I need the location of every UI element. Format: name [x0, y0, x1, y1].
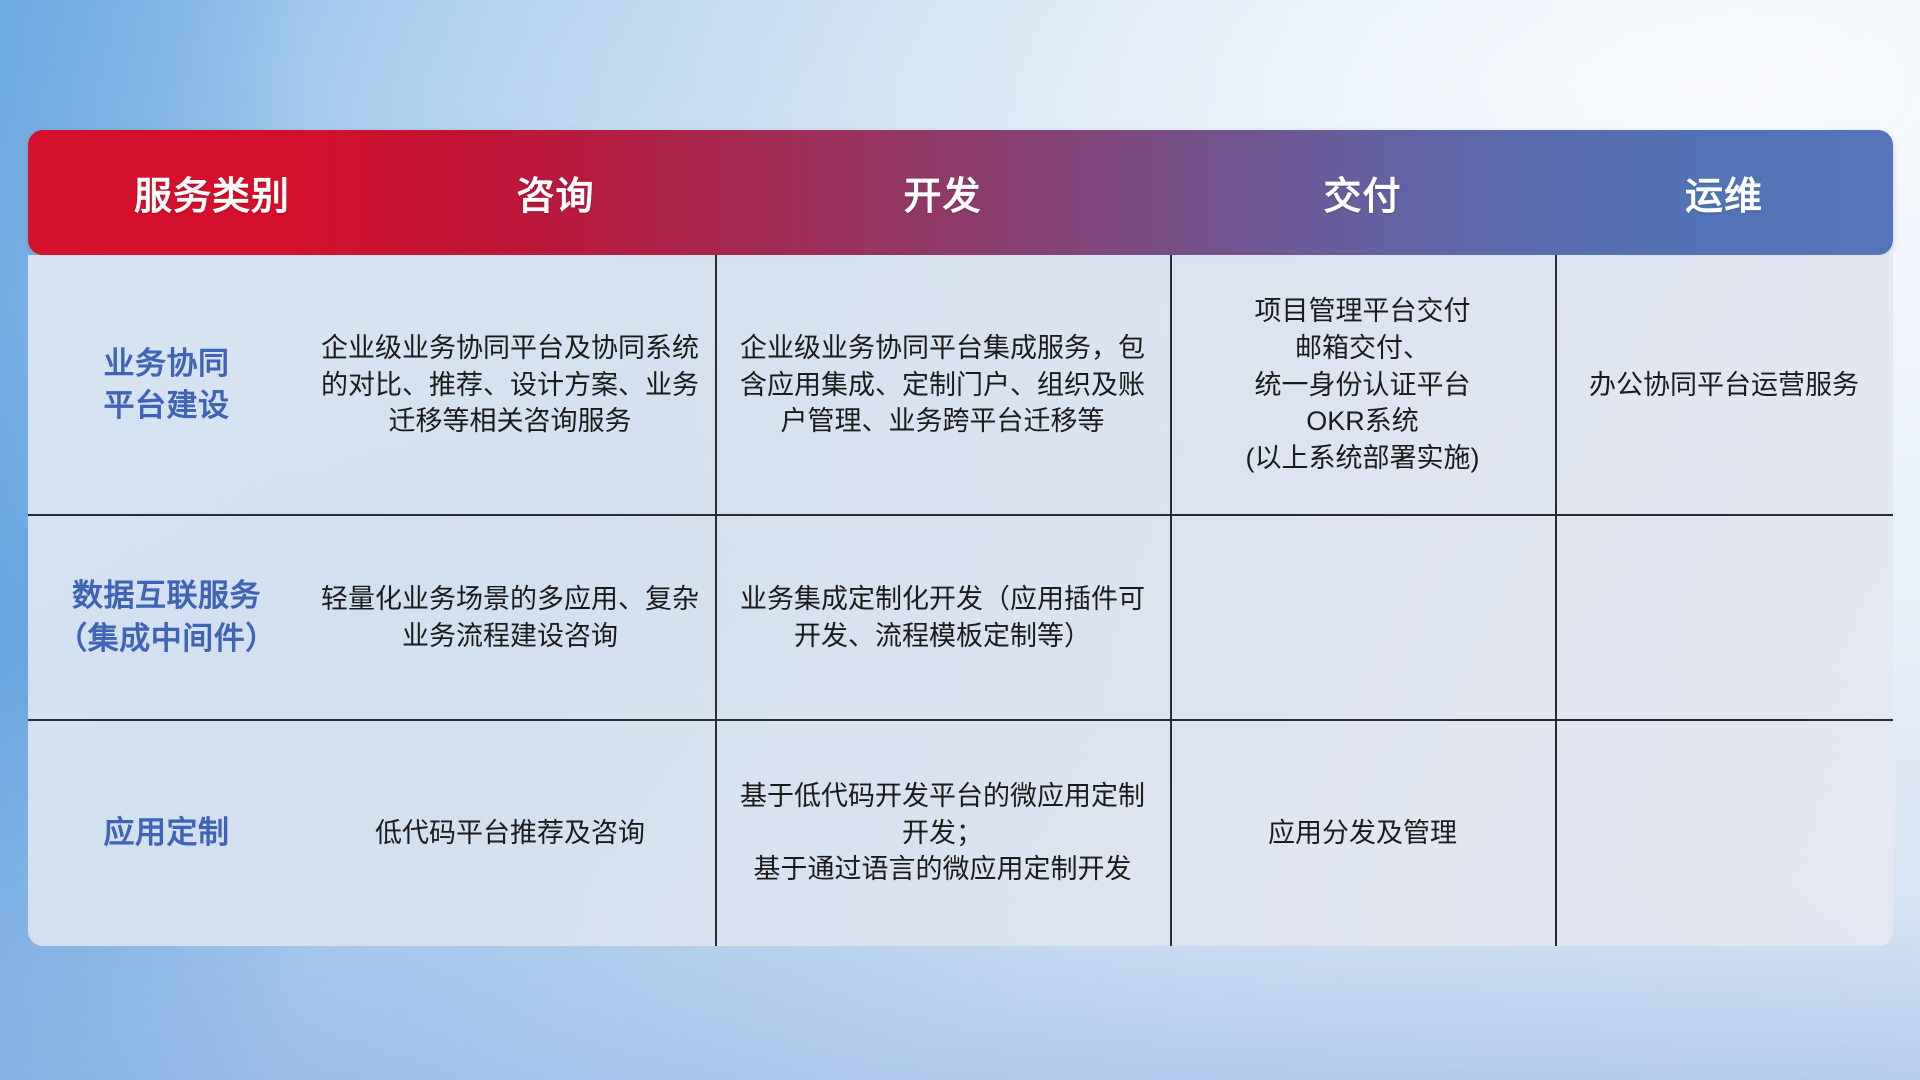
column-header-delivery: 交付 — [1170, 165, 1555, 220]
row-2-category-and-consulting: 应用定制 低代码平台推荐及咨询 — [28, 720, 715, 946]
table-row: 应用定制 低代码平台推荐及咨询 基于低代码开发平台的微应用定制开发； 基于通过语… — [28, 720, 1893, 946]
row-2-category-label: 应用定制 — [28, 720, 305, 946]
row-1-cell-consulting: 轻量化业务场景的多应用、复杂业务流程建设咨询 — [305, 515, 715, 720]
row-0-category-label: 业务协同 平台建设 — [28, 255, 305, 515]
row-1-cell-development: 业务集成定制化开发（应用插件可开发、流程模板定制等） — [715, 515, 1170, 720]
column-header-service-category: 服务类别 — [28, 165, 396, 220]
table-header-row: 服务类别 咨询 开发 交付 运维 — [28, 130, 1893, 255]
column-header-development: 开发 — [715, 165, 1170, 220]
row-1-category-line1: 数据互联服务 — [72, 578, 261, 613]
row-0-delivery-line-3: 统一身份认证平台 — [1254, 370, 1470, 400]
row-0-category-and-consulting: 业务协同 平台建设 企业级业务协同平台及协同系统的对比、推荐、设计方案、业务迁移… — [28, 255, 715, 515]
row-0-delivery-line-1: 项目管理平台交付 — [1254, 296, 1470, 326]
row-0-delivery-line-2: 邮箱交付、 — [1295, 333, 1430, 363]
column-header-consulting: 咨询 — [396, 165, 715, 220]
table-body: 业务协同 平台建设 企业级业务协同平台及协同系统的对比、推荐、设计方案、业务迁移… — [28, 255, 1893, 946]
row-0-category-line1: 业务协同 — [104, 346, 230, 381]
row-1-category-label: 数据互联服务 （集成中间件） — [28, 515, 305, 720]
row-1-cell-delivery — [1170, 515, 1555, 720]
table-row: 数据互联服务 （集成中间件） 轻量化业务场景的多应用、复杂业务流程建设咨询 业务… — [28, 515, 1893, 720]
row-0-category-line2: 平台建设 — [104, 388, 230, 423]
row-0-cell-operations: 办公协同平台运营服务 — [1555, 255, 1893, 515]
row-0-cell-consulting: 企业级业务协同平台及协同系统的对比、推荐、设计方案、业务迁移等相关咨询服务 — [305, 255, 715, 515]
row-0-delivery-line-5: (以上系统部署实施) — [1246, 443, 1480, 473]
row-divider-2 — [28, 719, 1893, 721]
column-header-operations: 运维 — [1555, 165, 1893, 220]
table-row: 业务协同 平台建设 企业级业务协同平台及协同系统的对比、推荐、设计方案、业务迁移… — [28, 255, 1893, 515]
row-0-cell-development: 企业级业务协同平台集成服务，包含应用集成、定制门户、组织及账户管理、业务跨平台迁… — [715, 255, 1170, 515]
row-divider-1 — [28, 514, 1893, 516]
row-2-cell-operations — [1555, 720, 1893, 946]
row-2-cell-development: 基于低代码开发平台的微应用定制开发； 基于通过语言的微应用定制开发 — [715, 720, 1170, 946]
row-2-develop-line-1: 基于低代码开发平台的微应用定制开发； — [740, 781, 1145, 848]
row-2-develop-line-2: 基于通过语言的微应用定制开发 — [754, 854, 1132, 884]
column-divider-3 — [1555, 255, 1557, 946]
row-2-cell-delivery: 应用分发及管理 — [1170, 720, 1555, 946]
column-divider-2 — [1170, 255, 1172, 946]
row-2-cell-consulting: 低代码平台推荐及咨询 — [305, 720, 715, 946]
row-1-category-line2: （集成中间件） — [56, 621, 277, 656]
row-0-delivery-line-4: OKR系统 — [1306, 406, 1419, 436]
row-0-cell-delivery: 项目管理平台交付 邮箱交付、 统一身份认证平台 OKR系统 (以上系统部署实施) — [1170, 255, 1555, 515]
column-divider-1 — [715, 255, 717, 946]
row-1-cell-operations — [1555, 515, 1893, 720]
row-1-category-and-consulting: 数据互联服务 （集成中间件） 轻量化业务场景的多应用、复杂业务流程建设咨询 — [28, 515, 715, 720]
service-category-table: 服务类别 咨询 开发 交付 运维 业务协同 平台建设 企业级业务协同平台及协同系… — [28, 130, 1893, 946]
row-2-category-line1: 应用定制 — [104, 812, 230, 854]
